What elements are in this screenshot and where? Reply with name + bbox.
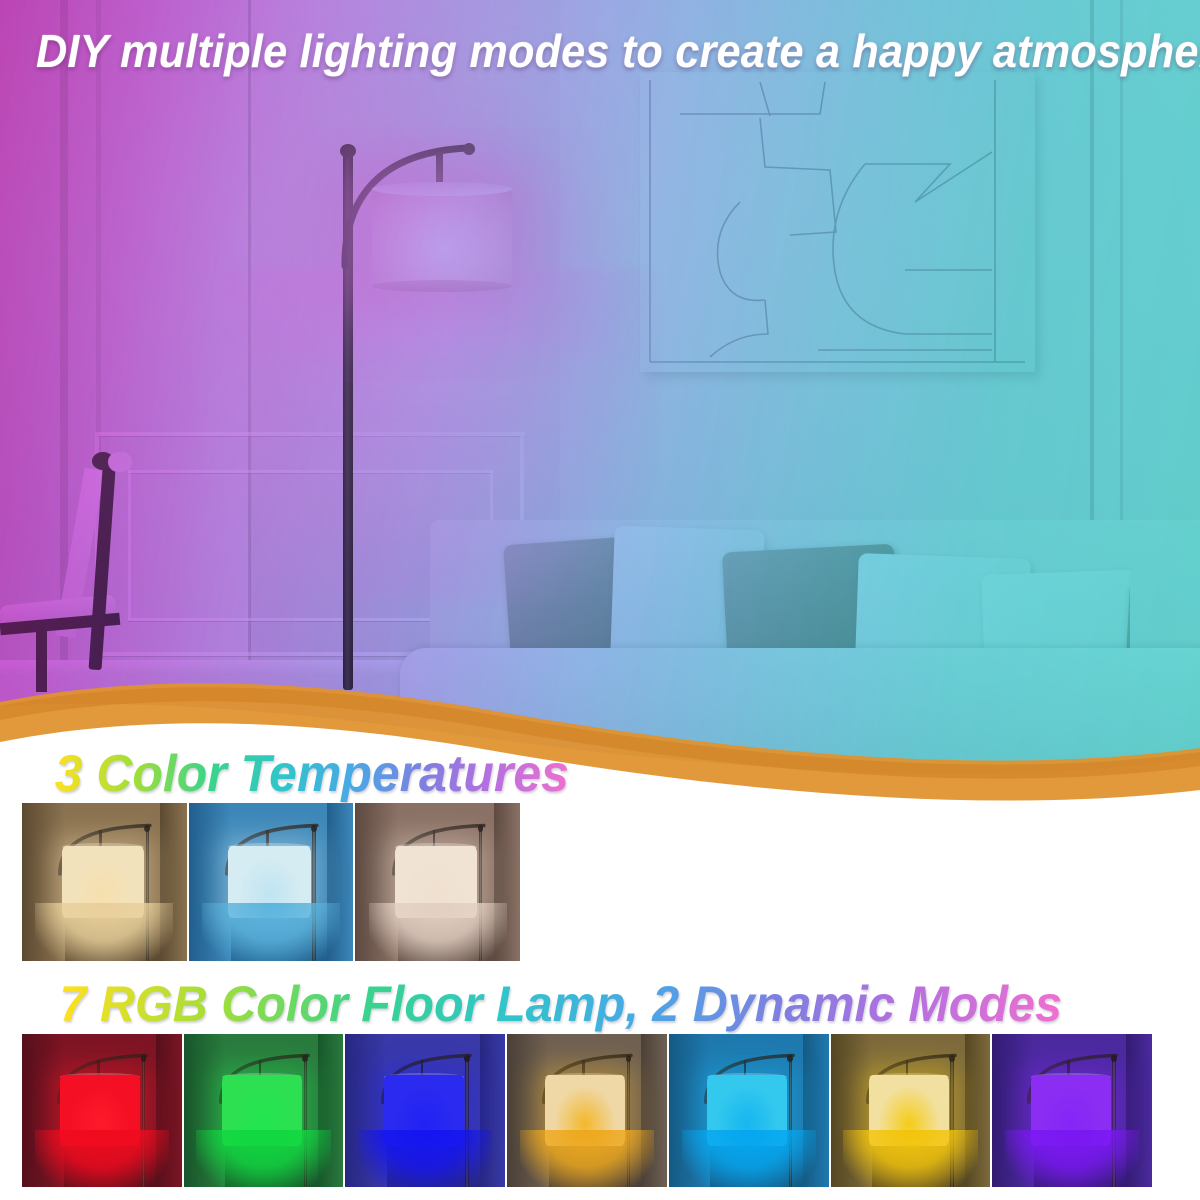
- color-temperature-panel-strip: [22, 803, 520, 961]
- section-heading-rgb-colors: 7 RGB Color Floor Lamp, 2 Dynamic Modes: [60, 975, 1062, 1033]
- lamp-light-pool: [843, 1130, 977, 1187]
- page-title: DIY multiple lighting modes to create a …: [36, 24, 1164, 78]
- lamp-scene: [345, 1034, 505, 1187]
- lamp-light-pool: [520, 1130, 654, 1187]
- lamp-scene: [22, 1034, 182, 1187]
- lamp-scene: [669, 1034, 829, 1187]
- lamp-scene: [507, 1034, 667, 1187]
- rgb-color-panel-strip: [22, 1034, 1152, 1187]
- rgb-panel-purple[interactable]: [992, 1034, 1152, 1187]
- lamp-pole-cap: [464, 1055, 470, 1062]
- lamp-scene: [189, 803, 354, 961]
- lamp-light-pool: [358, 1130, 492, 1187]
- lamp-light-pool: [682, 1130, 816, 1187]
- color-temp-panel-cool-white[interactable]: [189, 803, 354, 961]
- lamp-scene: [992, 1034, 1152, 1187]
- rgb-panel-red[interactable]: [22, 1034, 182, 1187]
- rgb-panel-blue[interactable]: [345, 1034, 505, 1187]
- rgb-panel-yellow[interactable]: [831, 1034, 991, 1187]
- color-temp-panel-warm-white[interactable]: [22, 803, 187, 961]
- color-temp-panel-natural-white[interactable]: [355, 803, 520, 961]
- lamp-scene: [831, 1034, 991, 1187]
- lamp-scene: [355, 803, 520, 961]
- lamp-light-pool: [369, 903, 507, 961]
- section-heading-color-temperatures: 3 Color Temperatures: [55, 744, 569, 804]
- lamp-light-pool: [196, 1130, 330, 1187]
- lamp-pole-cap: [311, 825, 317, 832]
- rgb-panel-green[interactable]: [184, 1034, 344, 1187]
- lamp-light-pool: [202, 903, 340, 961]
- lamp-light-pool: [35, 1130, 169, 1187]
- rgb-panel-amber[interactable]: [507, 1034, 667, 1187]
- lamp-light-pool: [35, 903, 173, 961]
- lamp-scene: [22, 803, 187, 961]
- lamp-light-pool: [1005, 1130, 1139, 1187]
- lamp-scene: [184, 1034, 344, 1187]
- lamp-pole-cap: [1111, 1055, 1117, 1062]
- rgb-panel-cyan[interactable]: [669, 1034, 829, 1187]
